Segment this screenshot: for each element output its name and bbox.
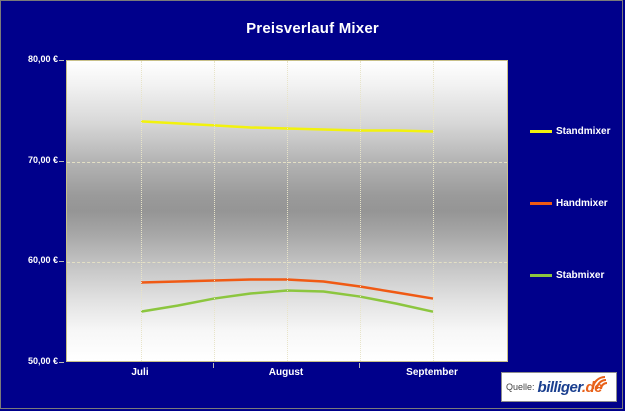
legend-item-handmixer[interactable]: Handmixer (530, 198, 608, 209)
y-axis-tick-mark (59, 161, 64, 162)
x-axis-tick-label: August (241, 367, 331, 378)
legend-color-swatch (530, 130, 552, 133)
source-prefix-label: Quelle: (506, 382, 535, 392)
chart-container: Preisverlauf Mixer 80,00 €70,00 €60,00 €… (0, 0, 625, 411)
y-axis-tick-mark (59, 60, 64, 61)
y-axis: 80,00 €70,00 €60,00 €50,00 € (0, 0, 58, 411)
plot-area (66, 60, 508, 362)
legend-item-stabmixer[interactable]: Stabmixer (530, 270, 604, 281)
x-axis-tick-label: September (387, 367, 477, 378)
x-axis-tick-mark (213, 363, 214, 368)
x-axis-tick-mark (359, 363, 360, 368)
vertical-gridline-4 (433, 61, 434, 361)
vertical-gridline-2 (287, 61, 288, 361)
source-logo: Quelle: billiger.de (501, 372, 617, 402)
vertical-gridline-3 (360, 61, 361, 361)
horizontal-gridline-60 (67, 262, 507, 263)
y-axis-tick-mark (59, 362, 64, 363)
horizontal-gridline-70 (67, 162, 507, 163)
legend-label: Standmixer (556, 126, 610, 137)
y-axis-tick-label: 80,00 € (28, 54, 58, 64)
vertical-gridline-1 (214, 61, 215, 361)
x-axis-tick-label: Juli (95, 367, 185, 378)
legend-color-swatch (530, 274, 552, 277)
y-axis-tick-label: 50,00 € (28, 356, 58, 366)
vertical-gridline-0 (141, 61, 142, 361)
legend-label: Stabmixer (556, 270, 604, 281)
y-axis-tick-label: 70,00 € (28, 155, 58, 165)
y-axis-tick-label: 60,00 € (28, 255, 58, 265)
legend-label: Handmixer (556, 198, 608, 209)
brand-primary-text: billiger (538, 379, 582, 396)
legend-item-standmixer[interactable]: Standmixer (530, 126, 610, 137)
legend-color-swatch (530, 202, 552, 205)
chart-legend: StandmixerHandmixerStabmixer (530, 0, 625, 411)
y-axis-tick-mark (59, 261, 64, 262)
signal-wave-icon (591, 375, 613, 391)
